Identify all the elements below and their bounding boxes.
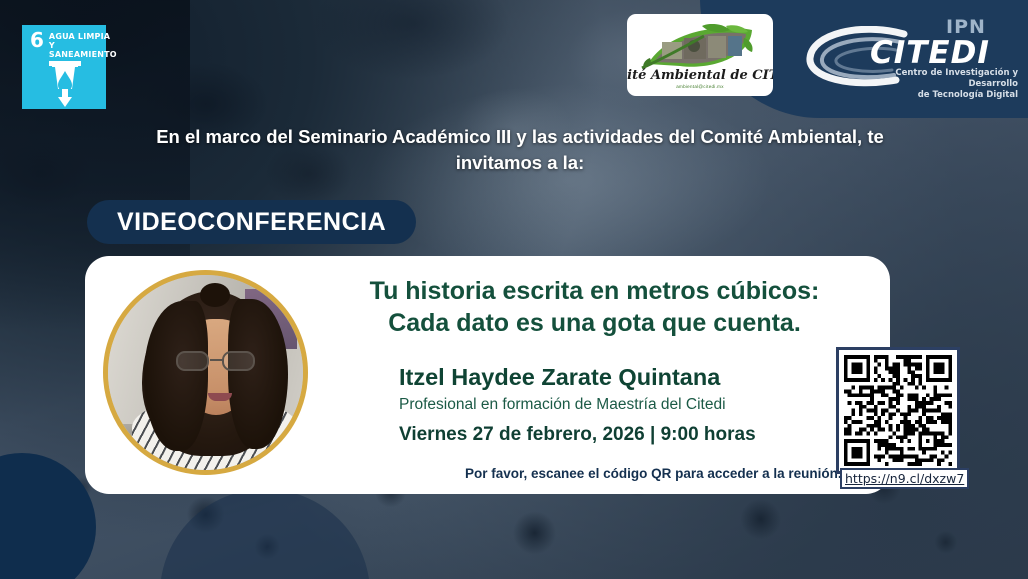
- sdg-6-badge: 6 AGUA LIMPIA Y SANEAMIENTO: [22, 25, 106, 109]
- citedi-logo: IPN CITEDI Centro de Investigación y Des…: [800, 16, 1018, 94]
- comite-ambiental-logo: Comité Ambiental de CITEDI ambiental@cit…: [627, 14, 773, 96]
- sdg-badge-line1: AGUA LIMPIA: [49, 32, 110, 41]
- speaker-photo-image: [108, 275, 303, 470]
- intro-text: En el marco del Seminario Académico III …: [150, 124, 890, 176]
- citedi-tagline-line1: Centro de Investigación y Desarrollo: [895, 68, 1018, 89]
- comite-logo-subcaption: ambiental@citedi.mx: [676, 84, 724, 89]
- water-glass-drop-icon: [30, 59, 99, 109]
- citedi-name-text: CITEDI: [870, 35, 990, 71]
- qr-code-icon: [844, 355, 952, 466]
- event-card-body: Tu historia escrita en metros cúbicos: C…: [317, 256, 890, 494]
- citedi-tagline-line2: de Tecnología Digital: [918, 90, 1018, 100]
- leaf-collage-icon: [640, 24, 760, 70]
- videoconferencia-label: VIDEOCONFERENCIA: [117, 208, 386, 237]
- qr-instruction-text: Por favor, escanee el código QR para acc…: [465, 466, 842, 481]
- speaker-name: Itzel Haydee Zarate Quintana: [399, 364, 720, 391]
- qr-link-tooltip[interactable]: https://n9.cl/dxzw7: [840, 468, 969, 489]
- talk-title-line2: Cada dato es una gota que cuenta.: [388, 309, 801, 337]
- qr-code[interactable]: [836, 347, 960, 474]
- sdg-badge-number: 6: [30, 32, 44, 49]
- talk-title-line1: Tu historia escrita en metros cúbicos:: [370, 277, 820, 305]
- speaker-photo: [103, 270, 308, 475]
- speaker-role: Profesional en formación de Maestría del…: [399, 396, 726, 414]
- talk-title: Tu historia escrita en metros cúbicos: C…: [317, 275, 872, 339]
- background-sheen: [360, 80, 780, 280]
- sdg-badge-text: AGUA LIMPIA Y SANEAMIENTO: [49, 32, 117, 59]
- poster-canvas: 6 AGUA LIMPIA Y SANEAMIENTO: [0, 0, 1028, 579]
- citedi-tagline: Centro de Investigación y Desarrollo de …: [870, 68, 1018, 101]
- videoconferencia-badge: VIDEOCONFERENCIA: [87, 200, 416, 244]
- sdg-badge-heading: 6 AGUA LIMPIA Y SANEAMIENTO: [30, 32, 99, 59]
- comite-logo-caption: Comité Ambiental de CITEDI: [627, 68, 773, 83]
- event-datetime: Viernes 27 de febrero, 2026 | 9:00 horas: [399, 424, 756, 446]
- sdg-badge-line2: Y SANEAMIENTO: [49, 41, 117, 59]
- event-card: Tu historia escrita en metros cúbicos: C…: [85, 256, 890, 494]
